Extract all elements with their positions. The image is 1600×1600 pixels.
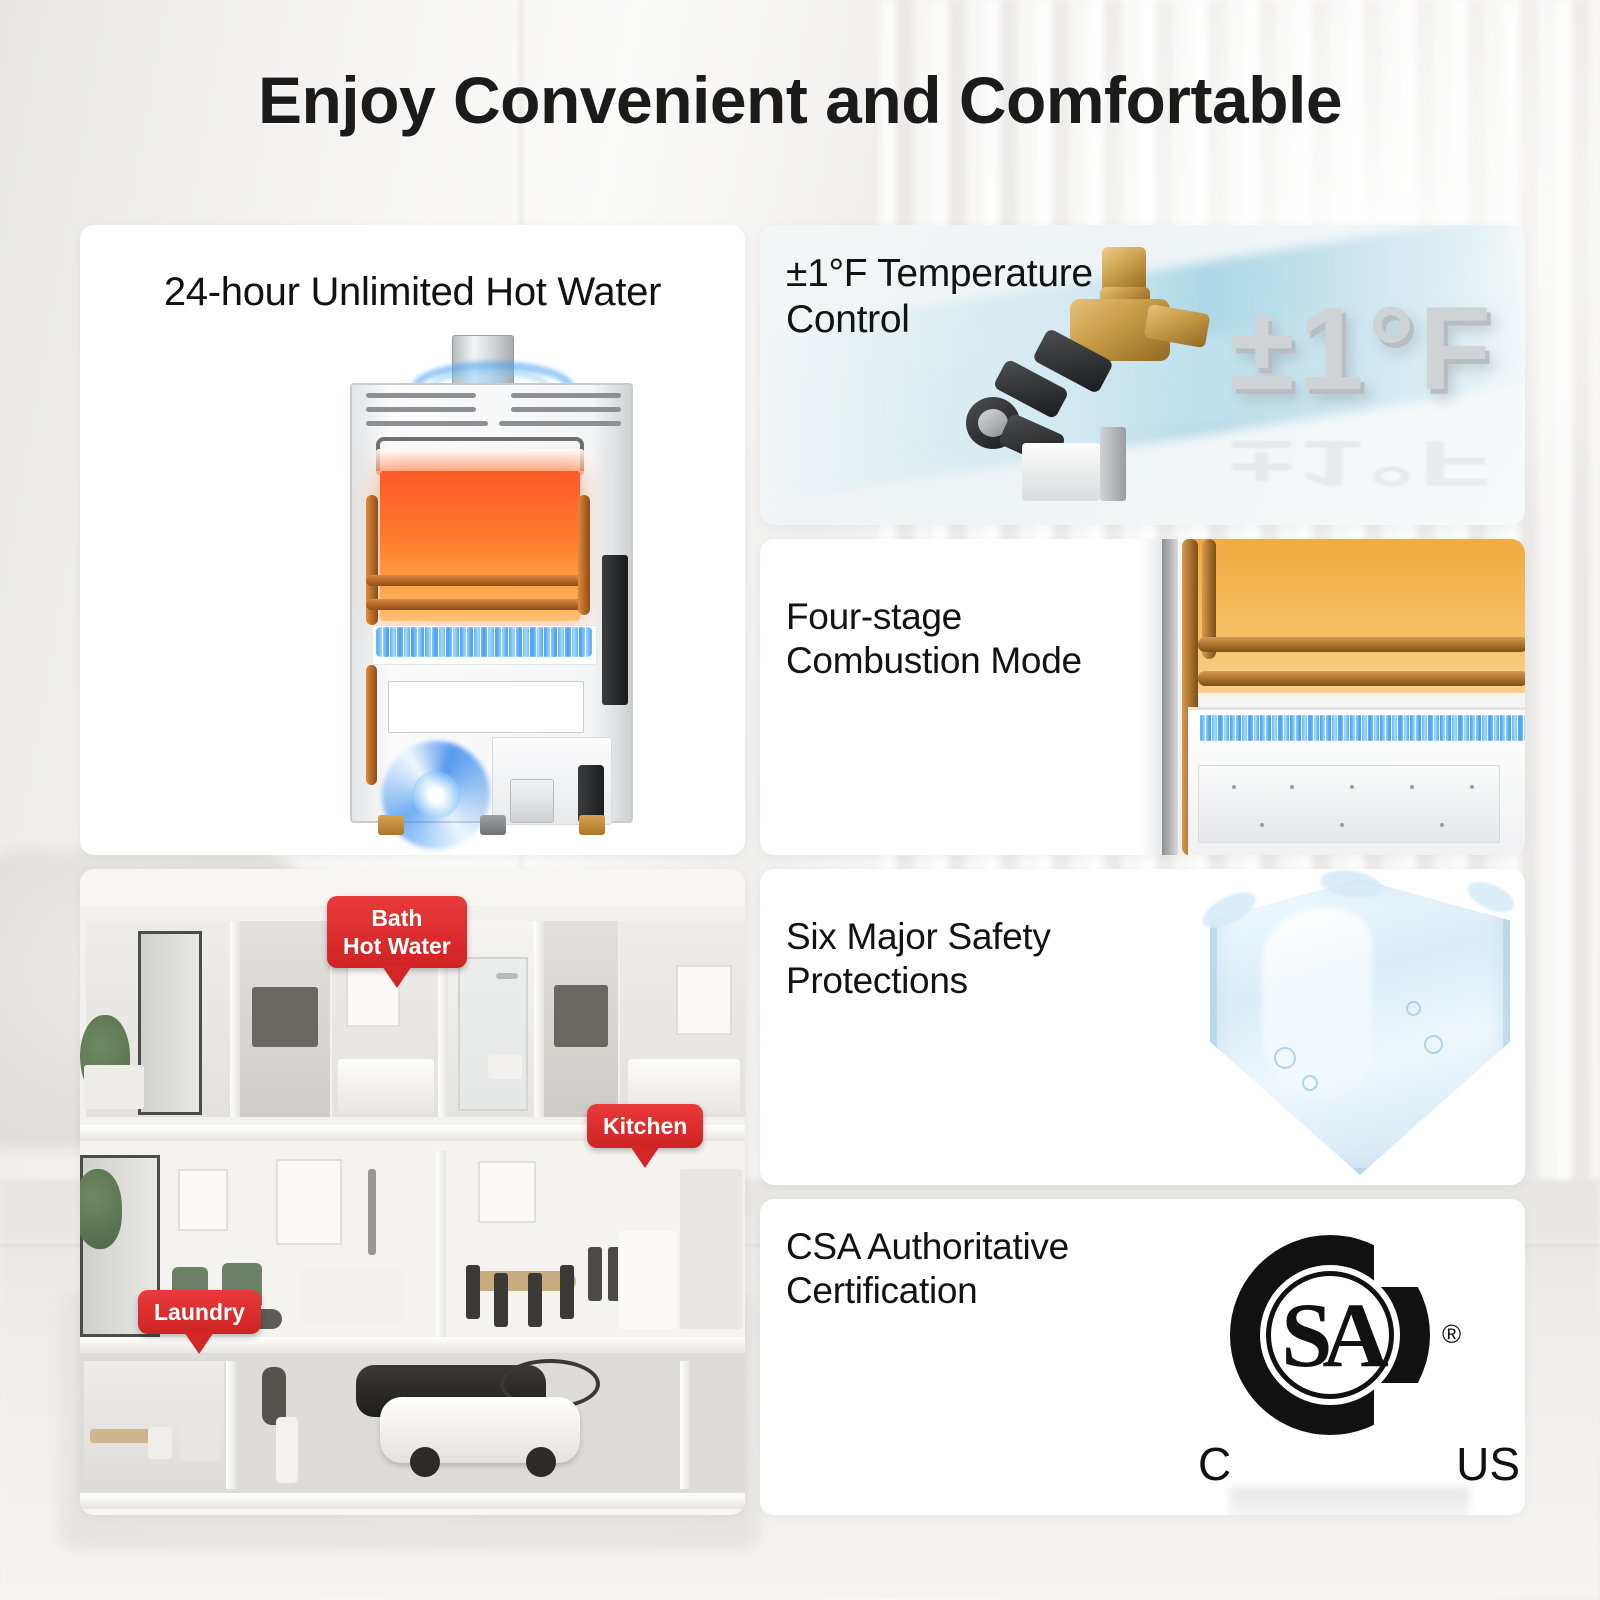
combustion-housing-edge xyxy=(1140,539,1162,855)
page-title: Enjoy Convenient and Comfortable xyxy=(0,62,1600,138)
slab-middle xyxy=(80,1337,745,1353)
artwork-5 xyxy=(478,1161,536,1223)
outlet-fitting xyxy=(579,815,605,835)
shower-enclosure xyxy=(458,957,528,1111)
wall-upper-1 xyxy=(230,921,240,1117)
burner-flame-icon xyxy=(376,627,592,657)
suv-wheel-front xyxy=(410,1447,440,1477)
pin-label-bath: Bath Hot Water xyxy=(327,896,467,968)
gas-valve-body xyxy=(510,779,554,823)
csa-label-us: US xyxy=(1456,1437,1520,1491)
copper-pipe-mid-2 xyxy=(366,599,586,610)
copper-pipe-down xyxy=(366,665,377,785)
wall-middle-1 xyxy=(436,1151,446,1339)
floor-lamp xyxy=(368,1169,376,1255)
vent-louvers xyxy=(366,393,621,441)
card-csa-certification: CSA Authoritative Certification SA ® C U… xyxy=(760,1199,1525,1515)
copper-pipe-mid-1 xyxy=(366,575,586,586)
card-safety-protections: Six Major Safety Protections xyxy=(760,869,1525,1185)
csa-logo-reflection xyxy=(1230,1487,1470,1515)
card-four-stage-combustion: Four-stage Combustion Mode xyxy=(760,539,1525,855)
pin-label-laundry: Laundry xyxy=(138,1290,261,1334)
csa-monogram: SA xyxy=(1266,1271,1394,1399)
card-title-four-stage: Four-stage Combustion Mode xyxy=(786,595,1186,682)
shower-head xyxy=(496,973,518,979)
card-title-csa: CSA Authoritative Certification xyxy=(786,1225,1206,1312)
dining-chair-2 xyxy=(494,1273,508,1327)
wall-upper-3 xyxy=(534,921,544,1117)
pin-kitchen-tail xyxy=(630,1146,660,1168)
copper-pipe-right xyxy=(578,495,590,615)
artwork-2 xyxy=(676,965,732,1035)
card-title-temperature: ±1°F Temperature Control xyxy=(786,251,1216,343)
pin-bath-line2: Hot Water xyxy=(343,932,451,960)
living-plant xyxy=(80,1169,122,1249)
dining-chair-4 xyxy=(560,1265,574,1319)
wall-garage-2 xyxy=(680,1361,690,1489)
card-unlimited-hot-water: 24-hour Unlimited Hot Water xyxy=(80,225,745,855)
artwork-3 xyxy=(178,1169,228,1231)
combustion-flame-icon xyxy=(1200,715,1525,741)
registered-trademark-icon: ® xyxy=(1442,1319,1461,1350)
heater-housing xyxy=(350,383,633,823)
suv-wheel-rear xyxy=(526,1447,556,1477)
shield-edge xyxy=(1210,879,1510,1175)
laundry-desk xyxy=(90,1429,156,1443)
laundry-sofa xyxy=(180,1421,220,1461)
slab-bottom xyxy=(80,1493,745,1509)
pin-laundry-tail xyxy=(184,1332,214,1354)
water-shield-icon xyxy=(1210,879,1510,1175)
inner-panel xyxy=(388,681,584,733)
sofa xyxy=(302,1269,406,1325)
inlet-fitting xyxy=(378,815,404,835)
kitchen-cabinets xyxy=(680,1169,742,1329)
bathroom-sink xyxy=(488,1055,522,1079)
card-title-safety: Six Major Safety Protections xyxy=(786,915,1186,1002)
combustion-copper-run-1 xyxy=(1198,637,1525,652)
fan-core xyxy=(412,771,460,819)
balcony-glass-door xyxy=(138,931,202,1115)
closet-clothes-1 xyxy=(252,987,318,1047)
card-title-unlimited: 24-hour Unlimited Hot Water xyxy=(80,269,745,316)
closet-clothes-2 xyxy=(554,985,608,1047)
scooter xyxy=(276,1417,298,1483)
gas-fitting xyxy=(480,815,506,835)
combustion-inner-shadow xyxy=(1162,539,1178,855)
combustion-copper-run-2 xyxy=(1198,671,1525,686)
pin-label-kitchen: Kitchen xyxy=(587,1104,703,1148)
pin-bath-tail xyxy=(382,966,412,988)
balcony-chair xyxy=(84,1065,144,1109)
kitchen-island xyxy=(618,1231,678,1329)
bed-1 xyxy=(338,1059,434,1113)
temperature-graphic-reflection: ±1°F xyxy=(1229,426,1495,501)
wall-garage-1 xyxy=(226,1361,236,1489)
pin-kitchen-line1: Kitchen xyxy=(603,1112,687,1140)
pin-bath-line1: Bath xyxy=(343,904,451,932)
combustion-closeup-illustration xyxy=(1140,539,1525,855)
bar-stool-1 xyxy=(588,1247,602,1301)
water-heater-cutaway-illustration xyxy=(344,335,639,835)
valve-mount-block xyxy=(1022,443,1100,501)
temperature-graphic-text: ±1°F xyxy=(1229,281,1495,417)
card-temperature-control: ±1°F ±1°F ±1°F Temperature Control xyxy=(760,225,1525,525)
artwork-4 xyxy=(276,1159,342,1245)
csa-logo: SA ® C US xyxy=(1190,1235,1520,1485)
dining-chair-3 xyxy=(528,1273,542,1327)
dining-chair-1 xyxy=(466,1265,480,1319)
laundry-chair xyxy=(148,1427,172,1459)
csa-label-canada: C xyxy=(1198,1437,1231,1491)
combustion-bottom-plate xyxy=(1198,765,1500,843)
pin-laundry-line1: Laundry xyxy=(154,1298,245,1326)
valve-bracket xyxy=(1100,427,1126,501)
control-module xyxy=(602,555,628,705)
combustion-heat-exchanger xyxy=(1188,539,1525,693)
